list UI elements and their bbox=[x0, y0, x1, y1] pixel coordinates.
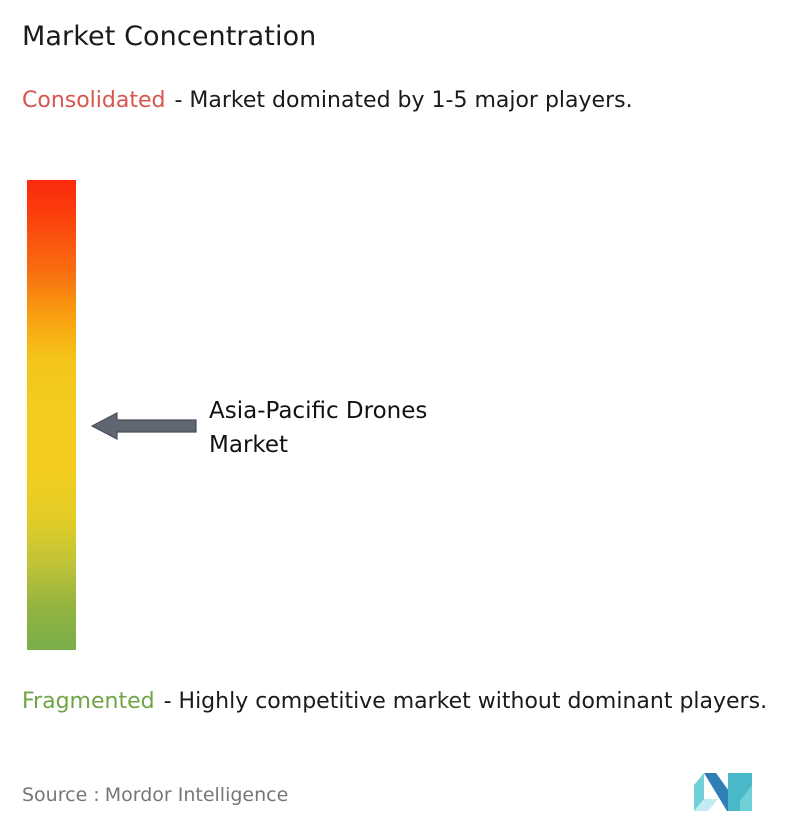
marker-label-line-1: Asia-Pacific Drones bbox=[209, 394, 539, 428]
marker-label-line-2: Market bbox=[209, 428, 539, 462]
marker-label: Asia-Pacific Drones Market bbox=[209, 394, 539, 462]
mordor-intelligence-logo-icon bbox=[694, 769, 766, 813]
source-attribution: Source :Mordor Intelligence bbox=[22, 782, 288, 808]
source-name: Mordor Intelligence bbox=[105, 784, 289, 806]
legend-fragmented: Fragmented- Highly competitive market wi… bbox=[22, 686, 792, 718]
concentration-gradient-bar bbox=[27, 180, 76, 650]
legend-fragmented-description: - Highly competitive market without domi… bbox=[164, 689, 767, 714]
legend-consolidated-keyword: Consolidated bbox=[22, 88, 165, 113]
market-concentration-infographic: Market Concentration Consolidated- Marke… bbox=[0, 0, 796, 834]
page-title: Market Concentration bbox=[22, 20, 316, 54]
marker-arrow-icon bbox=[91, 408, 197, 444]
legend-consolidated-description: - Market dominated by 1-5 major players. bbox=[174, 88, 632, 113]
source-label: Source : bbox=[22, 784, 100, 806]
legend-consolidated: Consolidated- Market dominated by 1-5 ma… bbox=[22, 85, 762, 117]
legend-fragmented-keyword: Fragmented bbox=[22, 689, 155, 714]
